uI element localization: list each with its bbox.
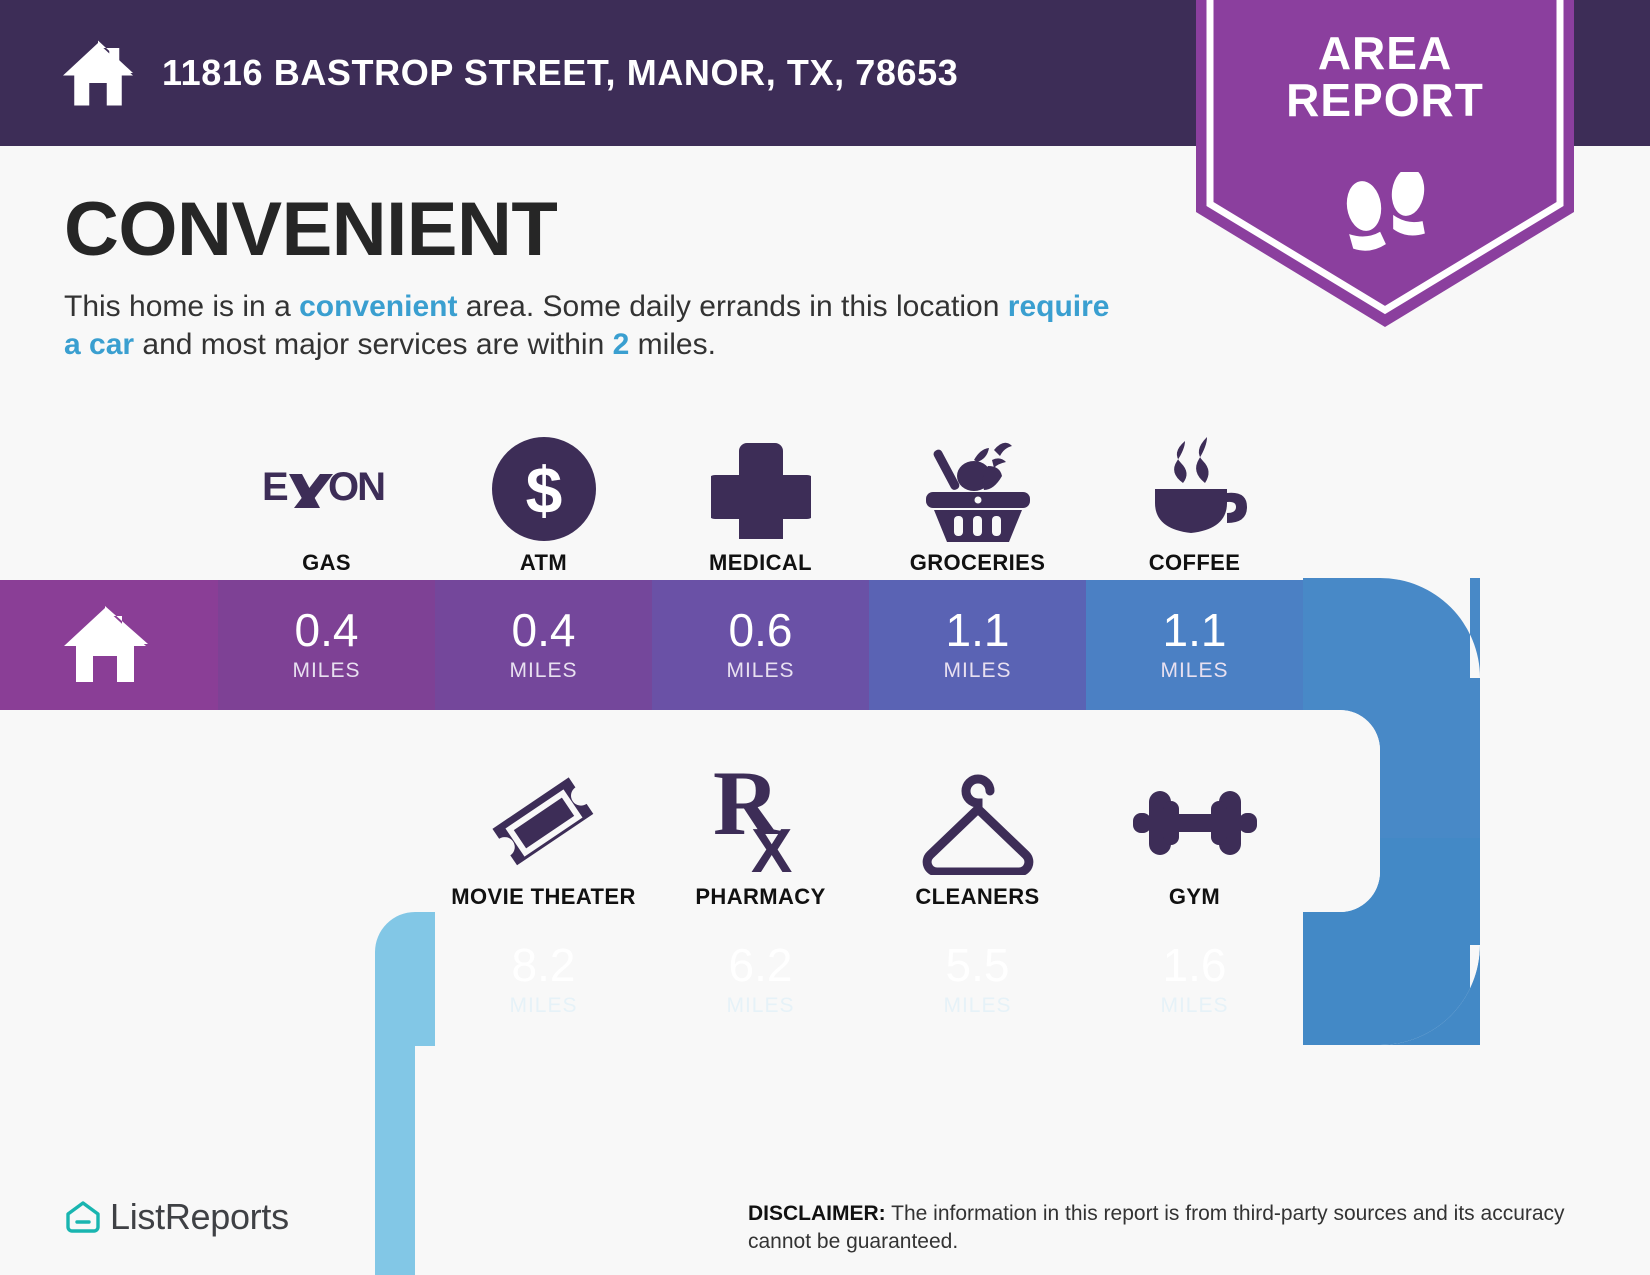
coffee-cup-icon: [1141, 434, 1249, 544]
distance-value: 8.2: [512, 942, 576, 988]
grocery-basket-icon: [922, 434, 1034, 544]
distance-cell: 1.1 MILES: [1086, 580, 1303, 710]
distance-value: 5.5: [946, 942, 1010, 988]
distance-value: 0.6: [729, 607, 793, 653]
listreports-logo: ListReports: [66, 1196, 289, 1238]
amenity-label: PHARMACY: [695, 884, 825, 910]
amenity-groceries: GROCERIES: [869, 418, 1086, 576]
disclaimer: DISCLAIMER: The information in this repo…: [748, 1200, 1568, 1256]
home-origin-icon: [62, 602, 148, 684]
amenity-label: GAS: [302, 550, 351, 576]
amenity-label: GROCERIES: [910, 550, 1046, 576]
amenity-atm: $ ATM: [435, 418, 652, 576]
medical-cross-icon: [711, 434, 811, 544]
distance-unit: MILES: [943, 994, 1011, 1018]
distance-cell: 8.2 MILES: [435, 915, 652, 1045]
badge-label: AREA REPORT: [1196, 30, 1574, 124]
distance-unit: MILES: [1160, 659, 1228, 683]
row2-icon-strip: MOVIE THEATER R X PHARMACY CLEANERS: [435, 752, 1303, 910]
distance-value: 0.4: [512, 607, 576, 653]
svg-text:ON: ON: [328, 466, 384, 509]
amenity-pharmacy: R X PHARMACY: [652, 752, 869, 910]
amenity-label: CLEANERS: [915, 884, 1039, 910]
distance-cell: 0.4 MILES: [435, 580, 652, 710]
dumbbell-gym-icon: [1133, 768, 1257, 878]
atm-dollar-icon: $: [492, 434, 596, 544]
amenity-cleaners: CLEANERS: [869, 752, 1086, 910]
svg-text:E: E: [262, 466, 288, 509]
amenity-coffee: COFFEE: [1086, 418, 1303, 576]
row2-distance-values: 8.2 MILES 6.2 MILES 5.5 MILES 1.6 MILES: [435, 915, 1303, 1045]
brand-name: ListReports: [110, 1196, 289, 1238]
distance-cell: 0.4 MILES: [218, 580, 435, 710]
distance-unit: MILES: [509, 659, 577, 683]
amenity-label: MOVIE THEATER: [451, 884, 635, 910]
amenity-label: GYM: [1169, 884, 1220, 910]
rx-pharmacy-icon: R X: [711, 768, 811, 878]
distance-cell: 5.5 MILES: [869, 915, 1086, 1045]
distance-cell: 0.6 MILES: [652, 580, 869, 710]
distance-value: 0.4: [295, 607, 359, 653]
svg-text:X: X: [751, 817, 792, 878]
row1-icon-strip: E ON GAS $ ATM MEDICAL: [218, 418, 1303, 576]
exxon-gas-icon: E ON: [262, 434, 392, 544]
movie-ticket-icon: [488, 768, 600, 878]
svg-text:$: $: [525, 453, 562, 527]
distance-value: 1.1: [946, 607, 1010, 653]
amenity-label: ATM: [520, 550, 567, 576]
distance-cell: 1.6 MILES: [1086, 915, 1303, 1045]
disclaimer-heading: DISCLAIMER:: [748, 1202, 886, 1225]
amenity-gym: GYM: [1086, 752, 1303, 910]
amenity-movie-theater: MOVIE THEATER: [435, 752, 652, 910]
distance-cell: 1.1 MILES: [869, 580, 1086, 710]
distance-unit: MILES: [726, 994, 794, 1018]
distance-unit: MILES: [726, 659, 794, 683]
distance-unit: MILES: [292, 659, 360, 683]
distance-unit: MILES: [1160, 994, 1228, 1018]
distance-value: 6.2: [729, 942, 793, 988]
row1-distance-values: 0.4 MILES 0.4 MILES 0.6 MILES 1.1 MILES …: [218, 580, 1303, 710]
footprints-icon: [1338, 172, 1434, 256]
amenity-label: MEDICAL: [709, 550, 812, 576]
distance-value: 1.1: [1163, 607, 1227, 653]
clothes-hanger-icon: [916, 768, 1040, 878]
amenity-medical: MEDICAL: [652, 418, 869, 576]
amenity-label: COFFEE: [1149, 550, 1241, 576]
amenity-gas: E ON GAS: [218, 418, 435, 576]
listreports-house-icon: [66, 1200, 100, 1234]
distance-unit: MILES: [509, 994, 577, 1018]
distance-value: 1.6: [1163, 942, 1227, 988]
distance-unit: MILES: [943, 659, 1011, 683]
area-report-badge: AREA REPORT: [1196, 0, 1574, 337]
distance-cell: 6.2 MILES: [652, 915, 869, 1045]
